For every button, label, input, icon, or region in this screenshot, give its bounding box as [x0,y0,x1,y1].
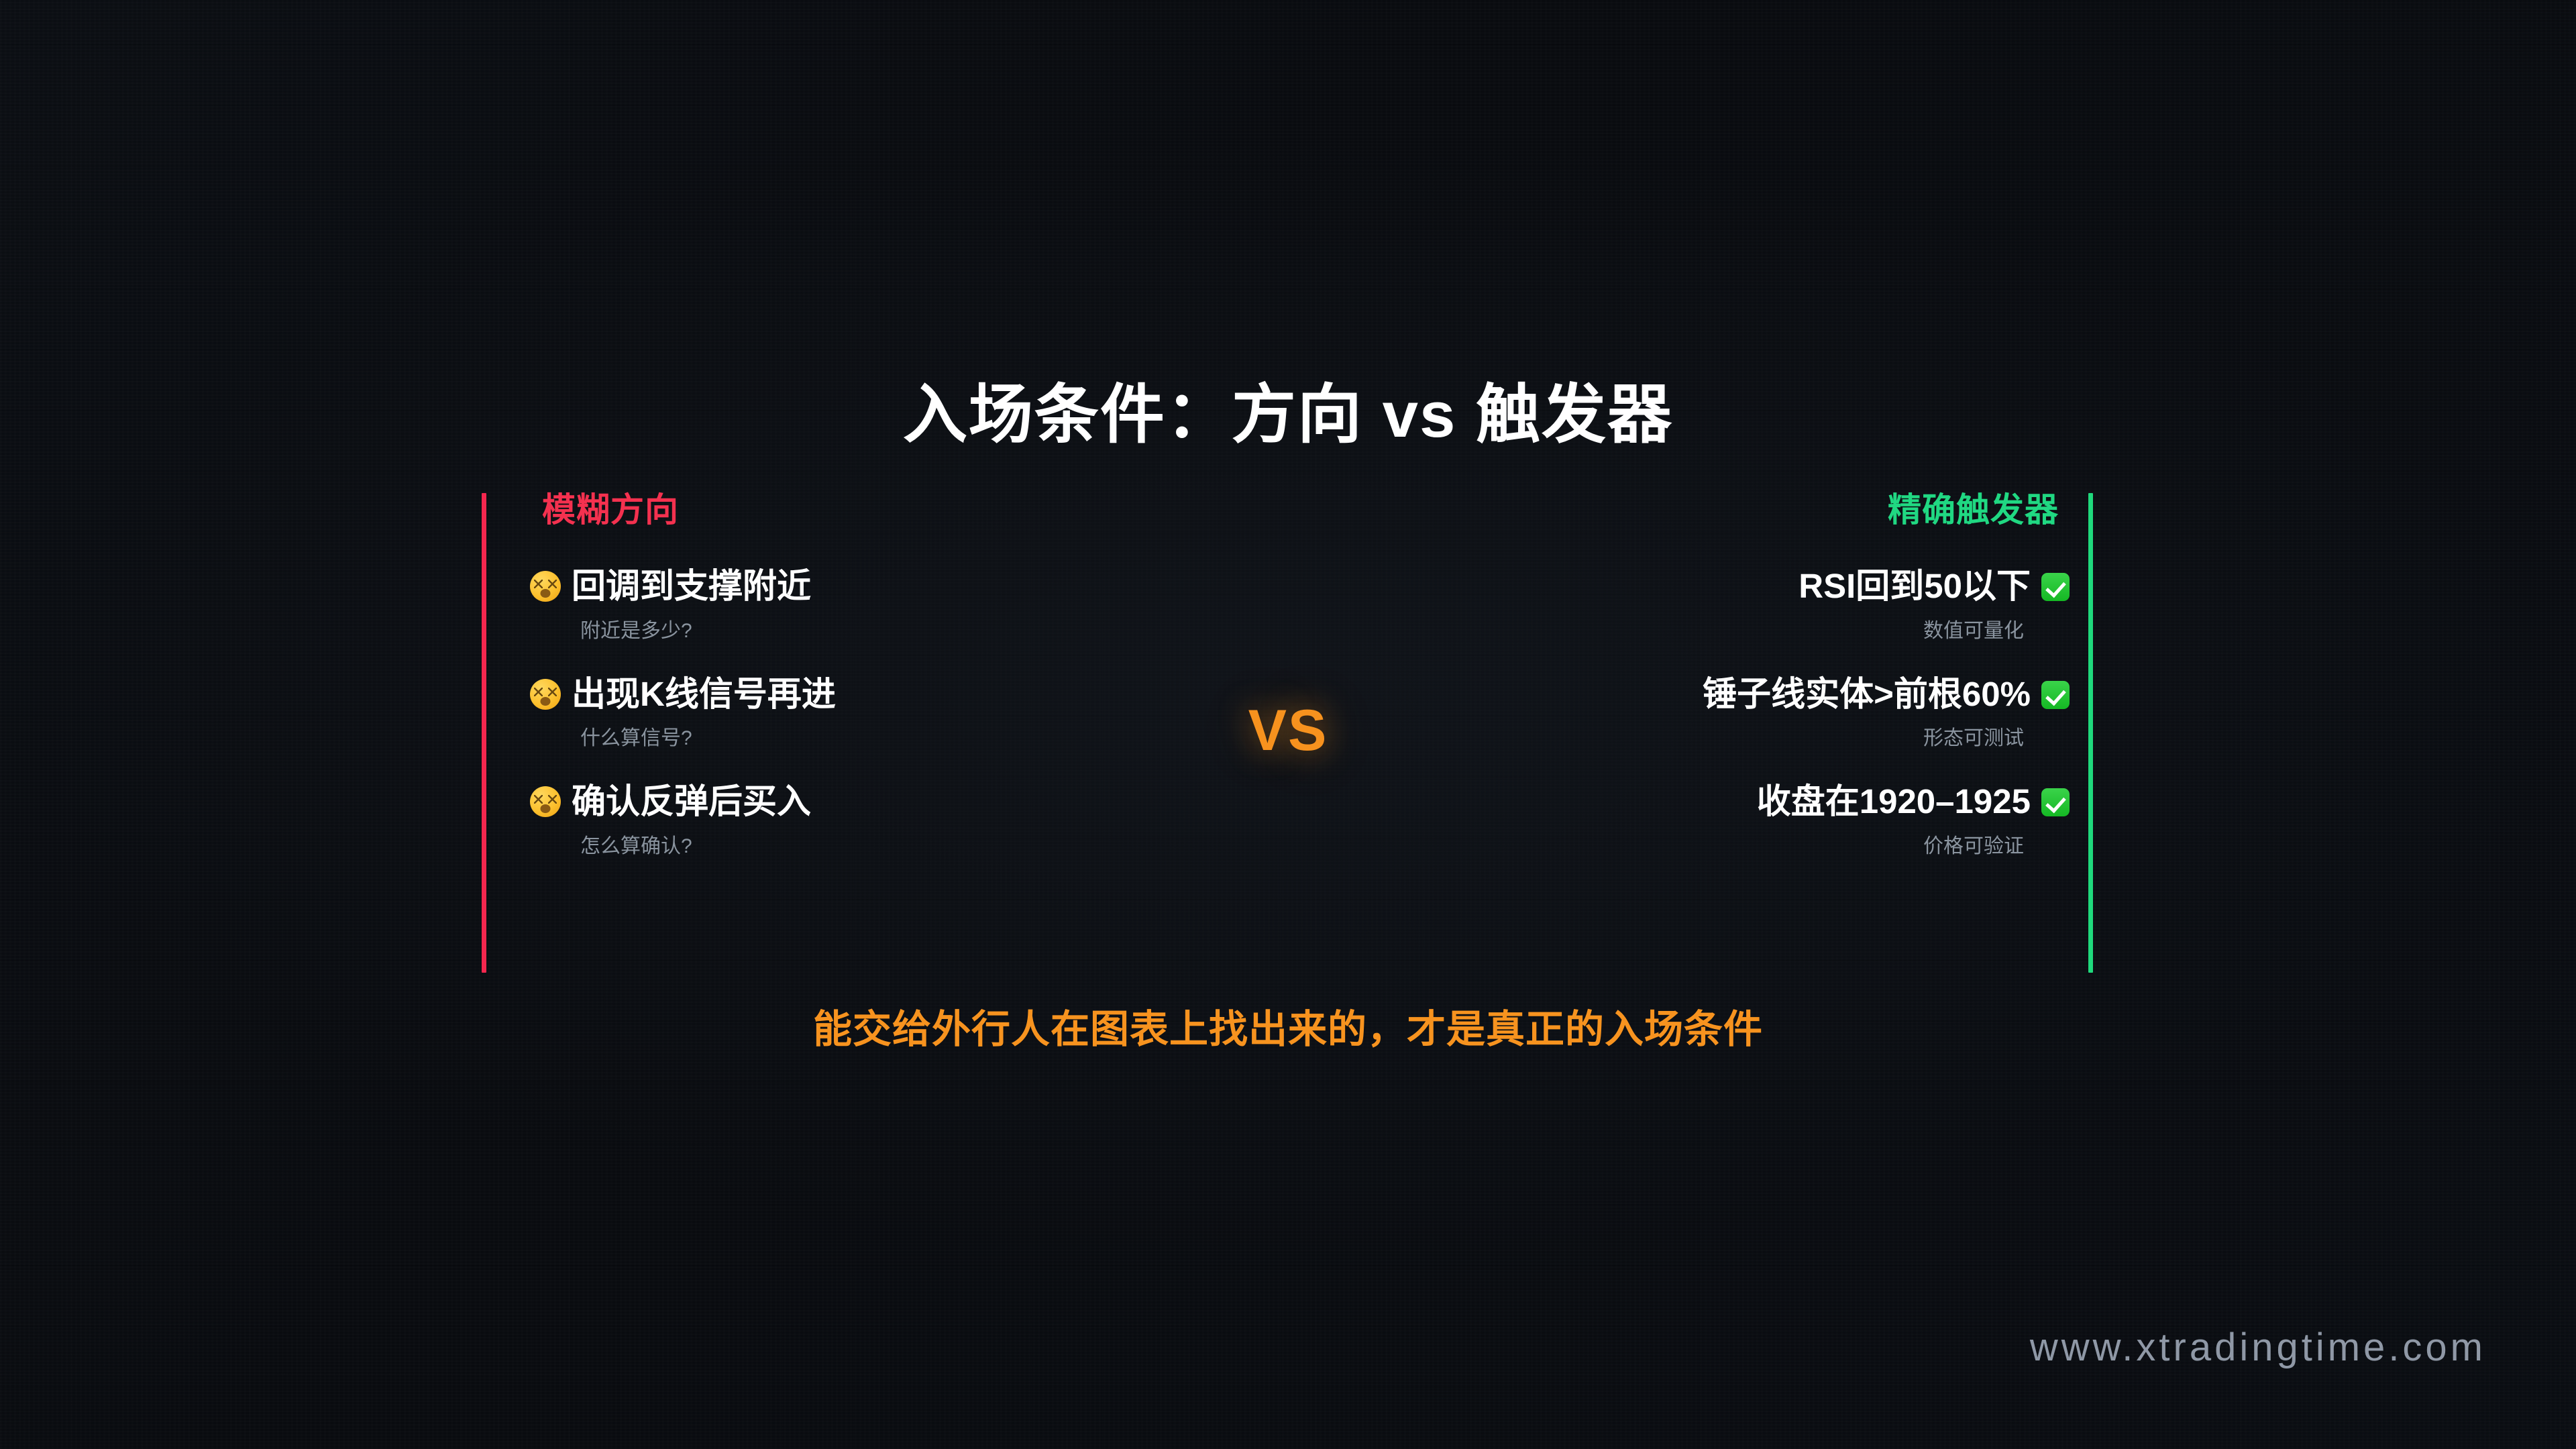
right-column-heading: 精确触发器 [1496,493,2059,527]
dizzy-face-icon [530,786,561,817]
dizzy-face-mouth [541,589,551,598]
vs-badge: VS [0,698,2576,764]
left-item-1-main: 回调到支撑附近 [530,567,1040,606]
right-item-3-sub: 价格可验证 [1496,835,2070,859]
left-column-heading: 模糊方向 [542,493,1040,527]
left-item-3-sub: 怎么算确认? [530,835,1040,859]
left-item-3-main: 确认反弹后买入 [530,782,1040,822]
left-item-1-sub: 附近是多少? [530,619,1040,643]
right-item-3-main: 收盘在1920–1925 [1496,782,2070,822]
list-item: 收盘在1920–1925 价格可验证 [1496,782,2070,859]
footer-takeaway-note: 能交给外行人在图表上找出来的，才是真正的入场条件 [0,998,2576,1054]
list-item: 确认反弹后买入 怎么算确认? [530,782,1040,859]
right-item-3-text: 收盘在1920–1925 [1757,782,2031,820]
right-item-1-sub: 数值可量化 [1496,619,2070,643]
left-item-3-text: 确认反弹后买入 [572,782,811,820]
list-item: RSI回到50以下 数值可量化 [1496,567,2070,643]
right-column-precise-trigger: 精确触发器 RSI回到50以下 数值可量化 锤子线实体>前根60% 形态可测试 … [1496,493,2070,859]
white-check-mark-icon [2041,788,2070,816]
right-item-1-main: RSI回到50以下 [1496,567,2070,606]
left-item-1-text: 回调到支撑附近 [572,567,811,605]
page-title: 入场条件：方向 vs 触发器 [0,377,2576,453]
list-item: 回调到支撑附近 附近是多少? [530,567,1040,643]
left-column-vague-direction: 模糊方向 回调到支撑附近 附近是多少? 出现K线信号再进 什么算信号? 确认反弹… [530,493,1040,859]
dizzy-face-mouth [541,804,551,813]
white-check-mark-icon [2041,573,2070,601]
site-watermark: www.xtradingtime.com [2030,1325,2486,1370]
dizzy-face-icon [530,571,561,602]
right-item-1-text: RSI回到50以下 [1799,567,2031,605]
slide-canvas: 入场条件：方向 vs 触发器 模糊方向 回调到支撑附近 附近是多少? 出现K线信… [0,0,2576,1449]
